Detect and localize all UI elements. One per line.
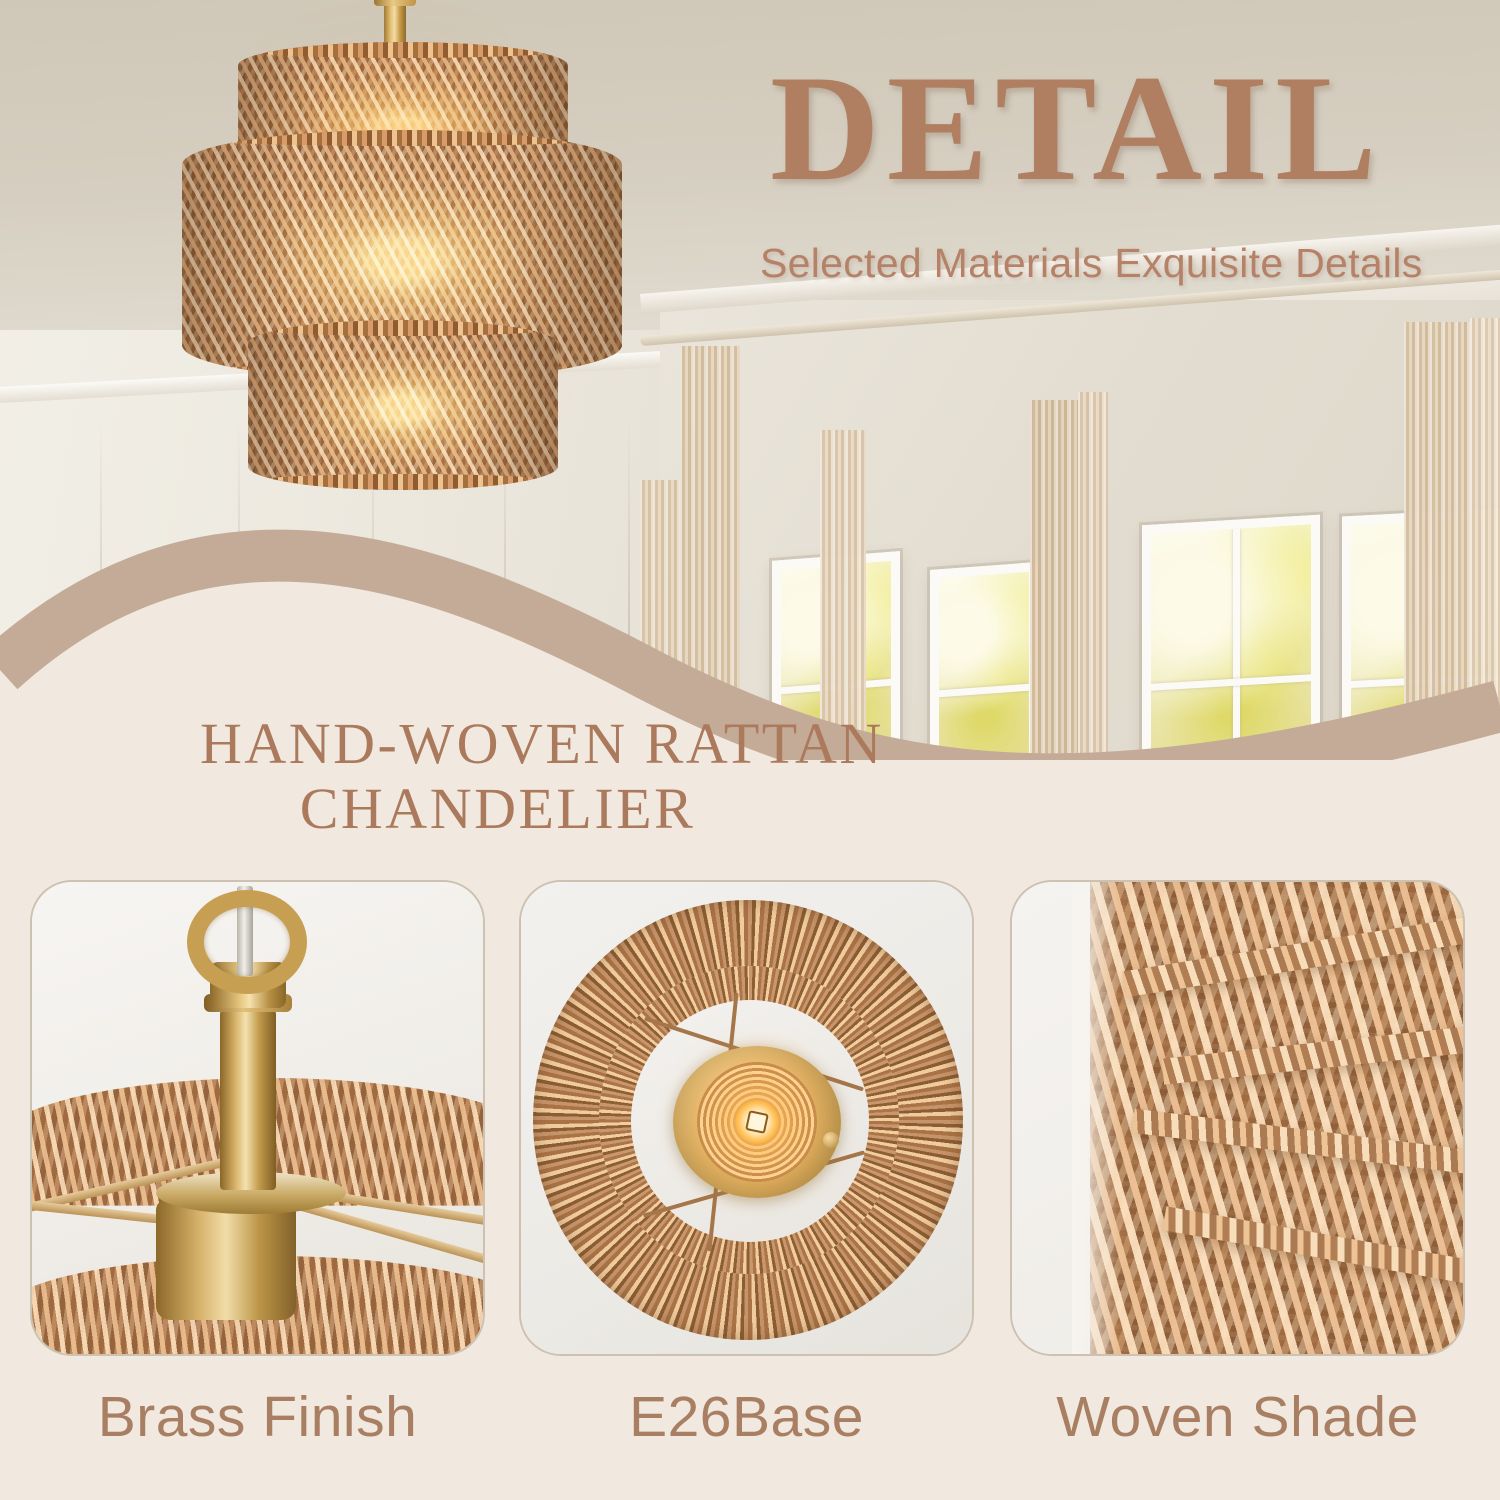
- detail-card-woven-shade: [1010, 880, 1465, 1356]
- brass-loop-hanger: [187, 890, 307, 994]
- shade-rim: [248, 474, 558, 490]
- marketing-image-canvas: DETAIL Selected Materials Exquisite Deta…: [0, 0, 1500, 1500]
- product-title: HAND-WOVEN RATTAN CHANDELIER: [200, 712, 960, 842]
- brass-stem: [220, 1010, 276, 1190]
- card-caption-e26-base: E26Base: [519, 1384, 974, 1450]
- shade-rim: [248, 320, 558, 336]
- brass-canopy: [156, 1200, 296, 1320]
- product-title-line-2: CHANDELIER: [200, 777, 960, 842]
- shade-rim: [182, 130, 622, 146]
- card-caption-brass-finish: Brass Finish: [30, 1384, 485, 1450]
- shade-rim: [238, 42, 568, 58]
- chandelier: [88, 0, 708, 520]
- page-headline: DETAIL: [770, 52, 1384, 204]
- brass-collar: [374, 0, 416, 6]
- shade-tier-bottom: [248, 320, 558, 490]
- shade-shading: [248, 320, 558, 490]
- detail-card-brass-finish: [30, 880, 485, 1356]
- page-subheadline: Selected Materials Exquisite Details: [760, 240, 1423, 287]
- plate-screw: [823, 1132, 839, 1148]
- product-title-line-1: HAND-WOVEN RATTAN: [200, 712, 960, 777]
- bulb-base-marking: [745, 1110, 769, 1134]
- detail-card-e26-base: [519, 880, 974, 1356]
- card-edge-fade: [1072, 880, 1118, 1356]
- card-caption-woven-shade: Woven Shade: [1010, 1384, 1465, 1450]
